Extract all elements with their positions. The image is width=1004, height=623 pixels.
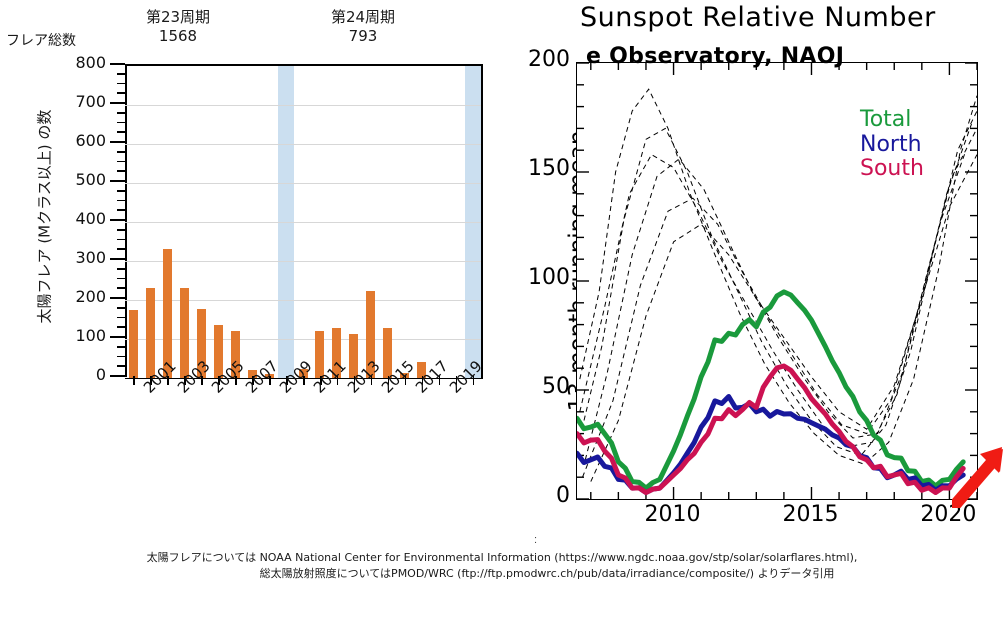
flare-y-minor-tick: [117, 248, 125, 250]
flare-y-minor-tick: [117, 317, 125, 319]
sunspot-y-tick-150: 150: [500, 156, 570, 181]
flare-y-minor-tick: [117, 346, 125, 348]
flare-y-tick-700: 700: [54, 92, 106, 111]
sunspot-previous-cycle-5: [583, 150, 967, 477]
sunspot-y-tick-labels: 200150100500: [500, 62, 570, 498]
flare-y-minor-tick: [117, 356, 125, 358]
flare-y-minor-tick: [117, 239, 125, 241]
flare-y-minor-tick: [117, 209, 125, 211]
sunspot-x-tick-labels: 201020152020: [576, 502, 980, 542]
flare-y-minor-tick: [117, 92, 125, 94]
flare-x-tick-labels: 2001200320052007200920112013201520172019: [125, 384, 505, 444]
flare-y-major-tick: [110, 102, 125, 104]
flare-y-major-tick: [110, 375, 125, 377]
flare-y-minor-tick: [117, 268, 125, 270]
sunspot-y-tick-0: 0: [500, 483, 570, 508]
flare-y-minor-tick: [117, 365, 125, 367]
flare-bars: [125, 66, 481, 378]
flare-total-label: フレア総数: [6, 30, 76, 50]
flare-y-minor-tick: [117, 190, 125, 192]
flare-y-tick-labels: 8007006005004003002001000: [50, 64, 106, 377]
sunspot-y-tick-100: 100: [500, 265, 570, 290]
flare-y-tick-100: 100: [54, 326, 106, 345]
ellipsis-marker: :: [534, 534, 537, 546]
flare-y-minor-tick: [117, 131, 125, 133]
cycle-24-annotation: 第24周期 793: [293, 8, 433, 46]
flare-y-minor-tick: [117, 73, 125, 75]
sunspot-series-total: [577, 292, 963, 488]
flare-y-major-tick: [110, 63, 125, 65]
flare-y-minor-tick: [117, 170, 125, 172]
flare-y-minor-tick: [117, 287, 125, 289]
sunspot-legend-total: Total: [860, 108, 924, 133]
flare-y-minor-tick: [117, 326, 125, 328]
sunspot-title: Sunspot Relative Number: [580, 2, 936, 33]
sunspot-legend-south: South: [860, 157, 924, 182]
flare-plot-area: [125, 64, 483, 379]
flare-y-tick-300: 300: [54, 248, 106, 267]
flare-y-major-tick: [110, 336, 125, 338]
flare-y-minor-tick: [117, 161, 125, 163]
red-up-right-arrow-icon: [952, 436, 1004, 508]
flare-y-minor-tick: [117, 151, 125, 153]
flare-y-minor-tick: [117, 83, 125, 85]
flare-y-minor-tick: [117, 278, 125, 280]
flare-y-major-tick: [110, 219, 125, 221]
flare-y-minor-tick: [117, 122, 125, 124]
flare-y-minor-tick: [117, 307, 125, 309]
cycle-24-name: 第24周期: [293, 8, 433, 27]
flare-bar-chart-panel: 第23周期 1568 第24周期 793 フレア総数 太陽フレア (Mクラス以上…: [0, 0, 520, 545]
sunspot-legend: TotalNorthSouth: [860, 108, 924, 182]
flare-bar-2000: [129, 310, 138, 378]
cycle-23-value: 1568: [108, 27, 248, 46]
flare-y-tick-600: 600: [54, 131, 106, 150]
flare-y-major-tick: [110, 297, 125, 299]
sunspot-y-tick-200: 200: [500, 47, 570, 72]
cycle-24-value: 793: [293, 27, 433, 46]
cycle-23-name: 第23周期: [108, 8, 248, 27]
flare-bar-2001: [146, 288, 155, 378]
flare-y-major-tick: [110, 141, 125, 143]
cycle-23-annotation: 第23周期 1568: [108, 8, 248, 46]
sunspot-legend-north: North: [860, 133, 924, 158]
flare-y-tick-0: 0: [54, 365, 106, 384]
sunspot-subtitle: e Observatory, NAOJ: [586, 44, 844, 69]
flare-y-major-tick: [110, 180, 125, 182]
flare-y-tick-400: 400: [54, 209, 106, 228]
flare-y-minor-tick: [117, 229, 125, 231]
flare-y-tick-800: 800: [54, 53, 106, 72]
sunspot-chart-panel: Sunspot Relative Number e Observatory, N…: [490, 0, 1004, 545]
footnote-line-1: 太陽フレアについては NOAA National Center for Envi…: [0, 550, 1004, 566]
sunspot-x-tick-2010: 2010: [645, 502, 701, 527]
flare-y-minor-tick: [117, 200, 125, 202]
flare-bar-2003: [180, 288, 189, 378]
flare-y-tick-500: 500: [54, 170, 106, 189]
sunspot-x-tick-2015: 2015: [782, 502, 838, 527]
flare-y-major-tick: [110, 258, 125, 260]
footnote-line-2: 総太陽放射照度についてはPMOD/WRC (ftp://ftp.pmodwrc.…: [0, 566, 1004, 582]
flare-y-minor-tick: [117, 112, 125, 114]
sunspot-y-tick-50: 50: [500, 374, 570, 399]
footnote: 太陽フレアについては NOAA National Center for Envi…: [0, 550, 1004, 581]
flare-y-tick-200: 200: [54, 287, 106, 306]
